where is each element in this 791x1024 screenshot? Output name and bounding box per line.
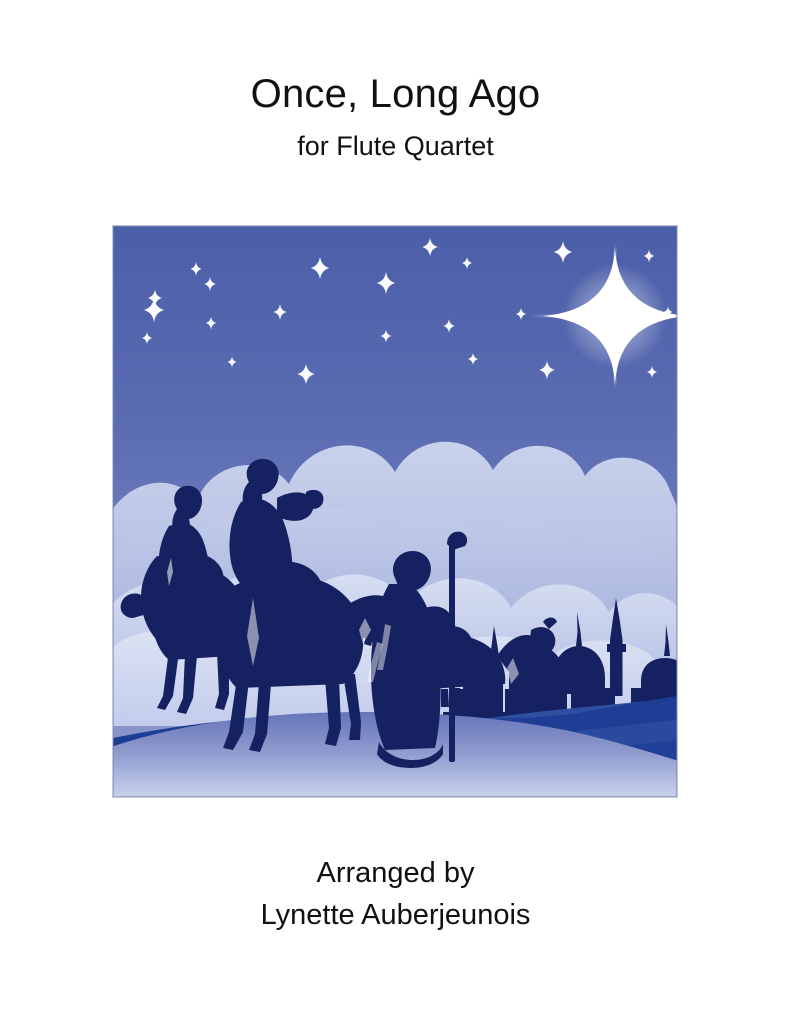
page-title: Once, Long Ago (0, 72, 791, 116)
nativity-scene-illustration (113, 226, 677, 797)
cover-page: Once, Long Ago for Flute Quartet (0, 0, 791, 1024)
cover-artwork (113, 226, 677, 797)
credit-prefix: Arranged by (0, 852, 791, 894)
credit-block: Arranged by Lynette Auberjeunois (0, 852, 791, 936)
title-block: Once, Long Ago for Flute Quartet (0, 72, 791, 162)
arranger-name: Lynette Auberjeunois (0, 894, 791, 936)
page-subtitle: for Flute Quartet (0, 130, 791, 162)
